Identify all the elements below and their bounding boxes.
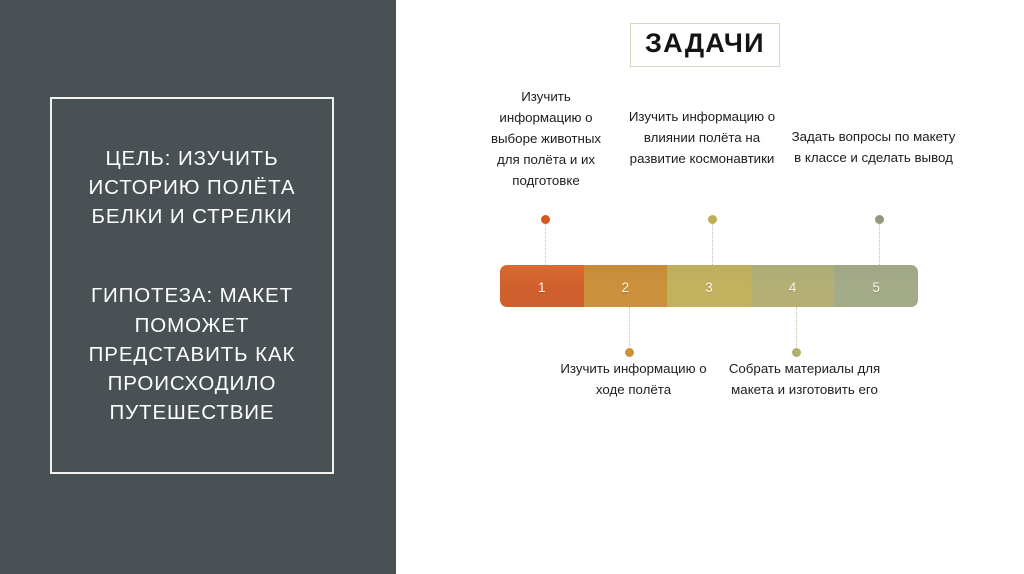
connector-line-1 xyxy=(545,219,546,265)
connector-line-2 xyxy=(629,307,630,353)
timeline-segment-number-2: 2 xyxy=(622,280,630,295)
right-content-area: ЗАДАЧИ Изучить информацию о выборе живот… xyxy=(396,0,1024,574)
connector-5 xyxy=(875,219,876,265)
connector-dot-4 xyxy=(792,348,801,357)
timeline-segment-number-5: 5 xyxy=(872,280,880,295)
timeline: 1 2 3 4 5 xyxy=(500,265,918,307)
timeline-segment-1[interactable]: 1 xyxy=(500,265,584,307)
timeline-label-3: Изучить информацию о влиянии полёта на р… xyxy=(618,106,786,169)
timeline-segment-number-4: 4 xyxy=(789,280,797,295)
connector-line-5 xyxy=(879,219,880,265)
goal-text: Цель: изучить историю полёта Белки и Стр… xyxy=(58,144,326,231)
timeline-segment-number-3: 3 xyxy=(705,280,713,295)
timeline-segment-4[interactable]: 4 xyxy=(751,265,835,307)
connector-dot-2 xyxy=(625,348,634,357)
timeline-label-1: Изучить информацию о выборе животных для… xyxy=(481,86,611,191)
timeline-segment-5[interactable]: 5 xyxy=(834,265,918,307)
timeline-segment-2[interactable]: 2 xyxy=(584,265,668,307)
timeline-bar: 1 2 3 4 5 xyxy=(500,265,918,307)
timeline-label-4: Собрать материалы для макета и изготовит… xyxy=(722,358,887,400)
connector-dot-3 xyxy=(708,215,717,224)
connector-line-3 xyxy=(712,219,713,265)
hypothesis-text: Гипотеза: макет поможет представить как … xyxy=(58,281,326,427)
connector-line-4 xyxy=(796,307,797,353)
timeline-segment-number-1: 1 xyxy=(538,280,546,295)
connector-1 xyxy=(541,219,542,265)
connector-2 xyxy=(625,307,626,353)
goal-hypothesis-block: Цель: изучить историю полёта Белки и Стр… xyxy=(52,99,332,472)
timeline-segment-3[interactable]: 3 xyxy=(667,265,751,307)
connector-dot-5 xyxy=(875,215,884,224)
left-dark-panel: Цель: изучить историю полёта Белки и Стр… xyxy=(0,0,396,574)
page-title-text: ЗАДАЧИ xyxy=(645,28,765,60)
timeline-label-2: Изучить информацию о ходе полёта xyxy=(551,358,716,400)
connector-4 xyxy=(792,307,793,353)
connector-3 xyxy=(708,219,709,265)
connector-dot-1 xyxy=(541,215,550,224)
page-title: ЗАДАЧИ xyxy=(630,23,780,67)
timeline-label-5: Задать вопросы по макету в классе и сдел… xyxy=(791,126,956,168)
